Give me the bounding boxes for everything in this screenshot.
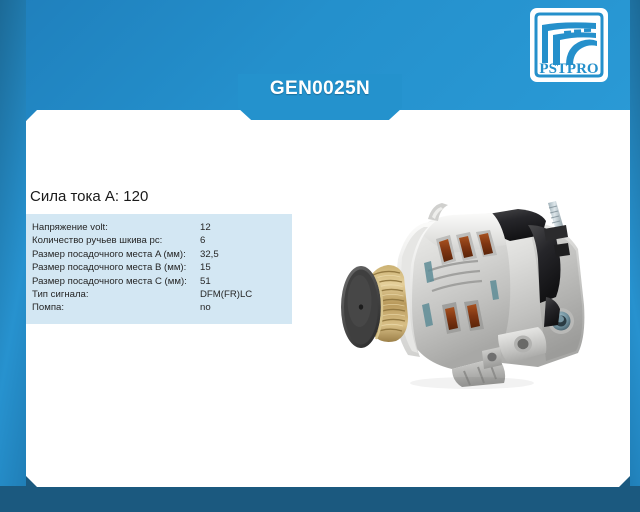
specifications-table: Напряжение volt: 12 Количество ручьев шк…	[26, 214, 292, 324]
pstpro-logo: PSTPRO	[530, 8, 608, 82]
table-row: Размер посадочного места B (мм): 15	[32, 261, 286, 274]
left-blue-rail	[0, 0, 26, 512]
page-title: GEN0025N	[270, 74, 370, 98]
alternator-icon	[332, 185, 620, 400]
spec-value: 15	[200, 261, 286, 274]
spec-value: 6	[200, 234, 286, 247]
table-row: Помпа: no	[32, 301, 286, 314]
table-row: Тип сигнала: DFM(FR)LC	[32, 288, 286, 301]
footer-band	[0, 486, 640, 512]
right-blue-rail	[630, 0, 640, 512]
product-title-tab: GEN0025N	[238, 74, 402, 120]
specifications-block: Сила тока A: 120 Напряжение volt: 12 Кол…	[26, 188, 292, 324]
current-rating-heading: Сила тока A: 120	[26, 188, 292, 214]
table-row: Напряжение volt: 12	[32, 221, 286, 234]
logo-wordmark: PSTPRO	[539, 61, 598, 77]
spec-label: Тип сигнала:	[32, 288, 200, 301]
spec-label: Количество ручьев шкива pc:	[32, 234, 200, 247]
spec-label: Помпа:	[32, 301, 200, 314]
alternator-photo	[332, 185, 620, 400]
spec-label: Размер посадочного места C (мм):	[32, 275, 200, 288]
spec-value: no	[200, 301, 286, 314]
product-datasheet-page: PSTPRO Сила тока A: 120 Напряжение volt:…	[0, 0, 640, 512]
logo-road-icon: PSTPRO	[533, 11, 605, 79]
spec-value: DFM(FR)LC	[200, 288, 286, 301]
spec-value: 32,5	[200, 248, 286, 261]
spec-label: Напряжение volt:	[32, 221, 200, 234]
table-row: Количество ручьев шкива pc: 6	[32, 234, 286, 247]
logo-inner: PSTPRO	[533, 11, 605, 79]
spec-value: 51	[200, 275, 286, 288]
spec-label: Размер посадочного места B (мм):	[32, 261, 200, 274]
spec-value: 12	[200, 221, 286, 234]
pulley	[341, 265, 408, 348]
spec-label: Размер посадочного места A (мм):	[32, 248, 200, 261]
table-row: Размер посадочного места C (мм): 51	[32, 275, 286, 288]
table-row: Размер посадочного места A (мм): 32,5	[32, 248, 286, 261]
